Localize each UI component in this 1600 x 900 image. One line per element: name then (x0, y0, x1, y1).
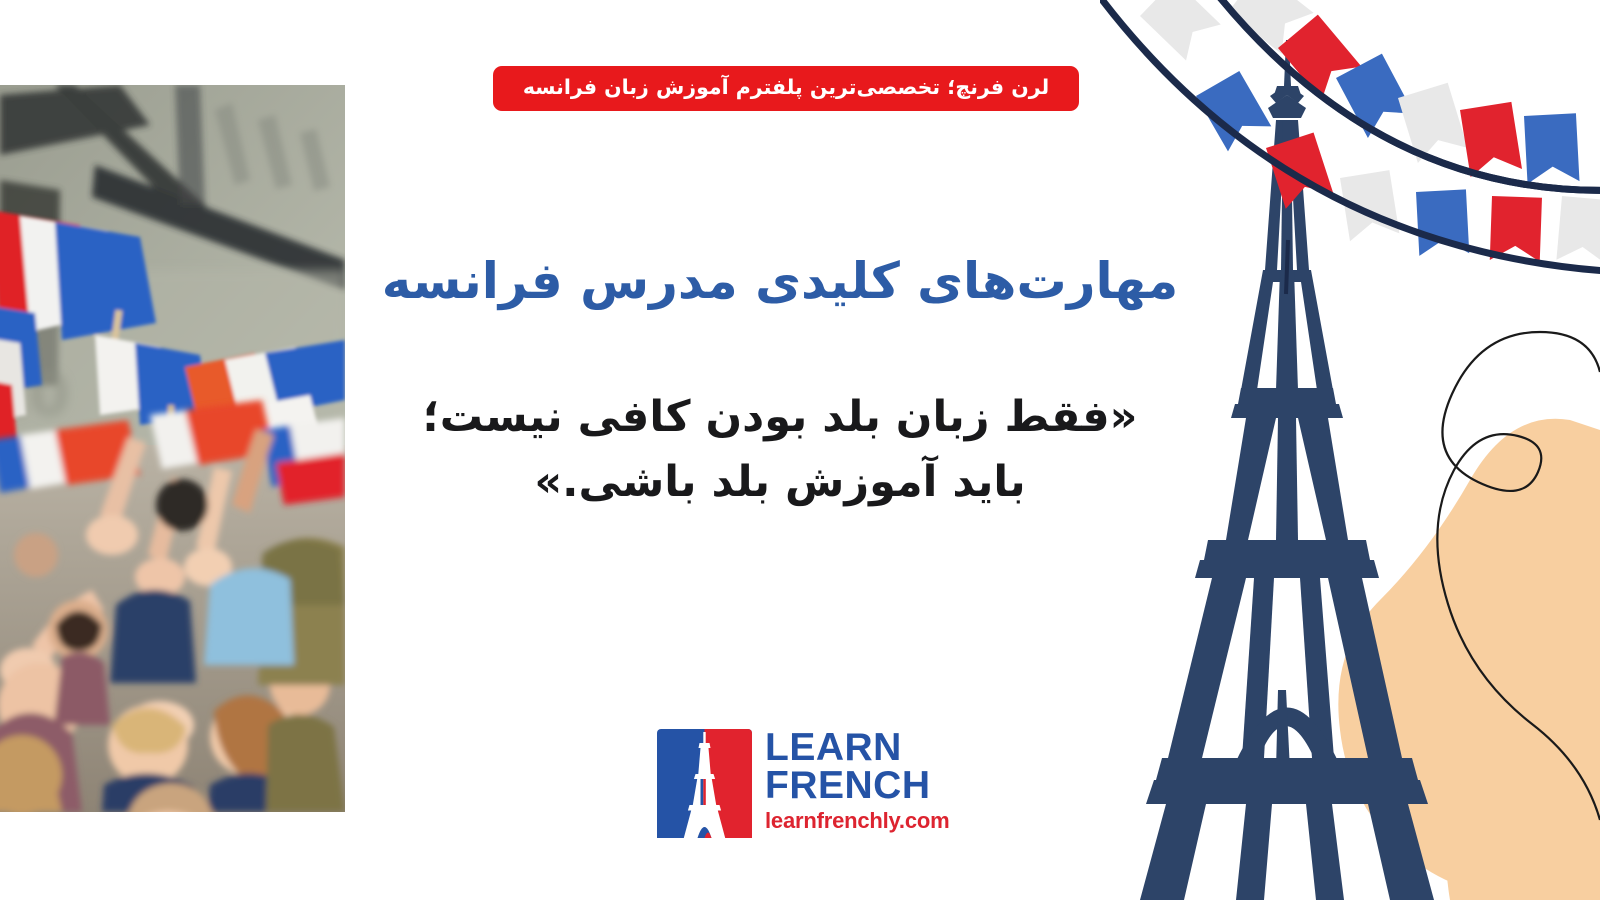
crowd-photo-illustration: 20 (0, 85, 345, 812)
banner-canvas: 20 (0, 0, 1600, 900)
brand-logo[interactable]: LEARN FRENCH learnfrenchly.com (657, 723, 949, 838)
bunting-outer (1170, 0, 1600, 190)
eiffel-tower-logo-glyph (657, 723, 752, 838)
eiffel-tower-illustration (1140, 40, 1434, 900)
brand-wordmark: LEARN FRENCH learnfrenchly.com (765, 723, 949, 832)
quote-line-2: باید آموزش بلد باشی.» (380, 450, 1180, 515)
bunting-inner-flags (1100, 0, 1600, 264)
squiggle-line (1437, 332, 1600, 820)
crowd-photo: 20 (0, 85, 345, 812)
bunting-drop-string (1286, 240, 1288, 294)
peach-blob-shape (1338, 419, 1600, 900)
page-title: مهارت‌های کلیدی مدرس فرانسه (380, 250, 1180, 313)
tagline-badge-text: لرن فرنچ؛ تخصصی‌ترین پلفترم آموزش زبان ف… (523, 77, 1049, 100)
bunting-inner (1100, 0, 1600, 272)
brand-name-line-1: LEARN (765, 729, 902, 767)
bunting-outer-flags (1186, 0, 1579, 184)
eiffel-tower-logo-icon (657, 723, 752, 838)
quote-line-1: «فقط زبان بلد بودن کافی نیست؛ (380, 385, 1180, 450)
quote-block: «فقط زبان بلد بودن کافی نیست؛ باید آموزش… (380, 385, 1180, 516)
brand-website-url: learnfrenchly.com (765, 810, 949, 832)
brand-name-line-2: FRENCH (765, 767, 931, 805)
tagline-badge: لرن فرنچ؛ تخصصی‌ترین پلفترم آموزش زبان ف… (493, 66, 1079, 111)
